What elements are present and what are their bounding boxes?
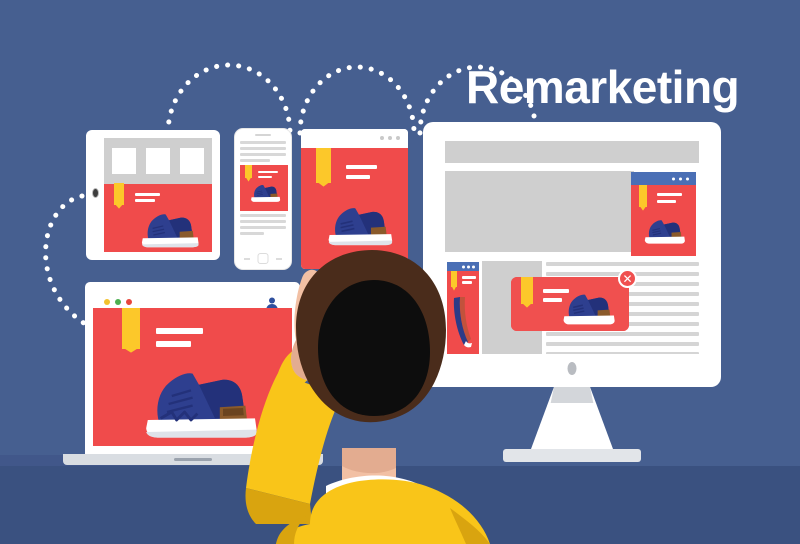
ribbon-badge-icon [245,165,252,178]
page-header-block [445,141,699,163]
ribbon-badge-icon [316,148,331,183]
monitor-brand-dot [568,362,577,375]
phone-text-line [240,220,286,223]
tablet-thumbnail[interactable] [112,148,136,174]
ad-copy-line [258,176,272,178]
monitor-sidebar-banner-ad[interactable] [631,172,696,256]
ad-copy-line [657,193,682,196]
sneaker-illustration [551,285,625,329]
phone-text-line [240,147,286,150]
phone-text-line [240,159,270,162]
ribbon-badge-icon [122,308,140,349]
phone-earpiece-icon [255,134,271,136]
person-figure [160,236,500,544]
page-text-line [546,262,699,266]
ad-copy-line [346,175,370,179]
tablet-thumbnail[interactable] [180,148,204,174]
tablet-camera-icon [92,188,99,198]
page-text-line [546,342,699,346]
ad-titlebar [631,172,696,185]
browser-titlebar [301,129,408,148]
phone-text-line [240,214,286,217]
ad-copy-line [135,199,155,202]
illustration-canvas: ✕ Remarketing [0,0,800,544]
phone-text-line [240,153,286,156]
hair-front [318,280,430,416]
ad-copy-line [346,165,377,169]
phone-shoe-ad[interactable] [240,165,288,211]
browser-window-dots-icon[interactable] [380,136,400,140]
ribbon-badge-icon [114,183,124,205]
monitor-base [503,449,641,462]
ribbon-badge-icon [521,277,533,304]
neck-shadow [342,448,396,473]
tablet-screen[interactable] [104,138,212,252]
page-text-line [546,332,699,336]
close-icon[interactable]: ✕ [618,269,637,288]
sneaker-illustration [635,212,693,248]
sneaker-illustration [244,179,286,205]
page-title: Remarketing [466,62,739,112]
phone-text-line [240,226,286,229]
phone-text-line [240,232,264,235]
popup-ad-body[interactable] [511,277,629,331]
browser-window-dots-icon[interactable] [104,299,132,305]
monitor-popup-ad[interactable]: ✕ [511,277,629,331]
phone-text-line [240,141,286,144]
ad-copy-line [135,193,160,196]
ribbon-badge-icon [639,185,647,207]
page-text-line [546,352,699,354]
ad-copy-line [657,200,676,203]
ad-copy-line [258,171,278,173]
tablet-thumbnail[interactable] [146,148,170,174]
